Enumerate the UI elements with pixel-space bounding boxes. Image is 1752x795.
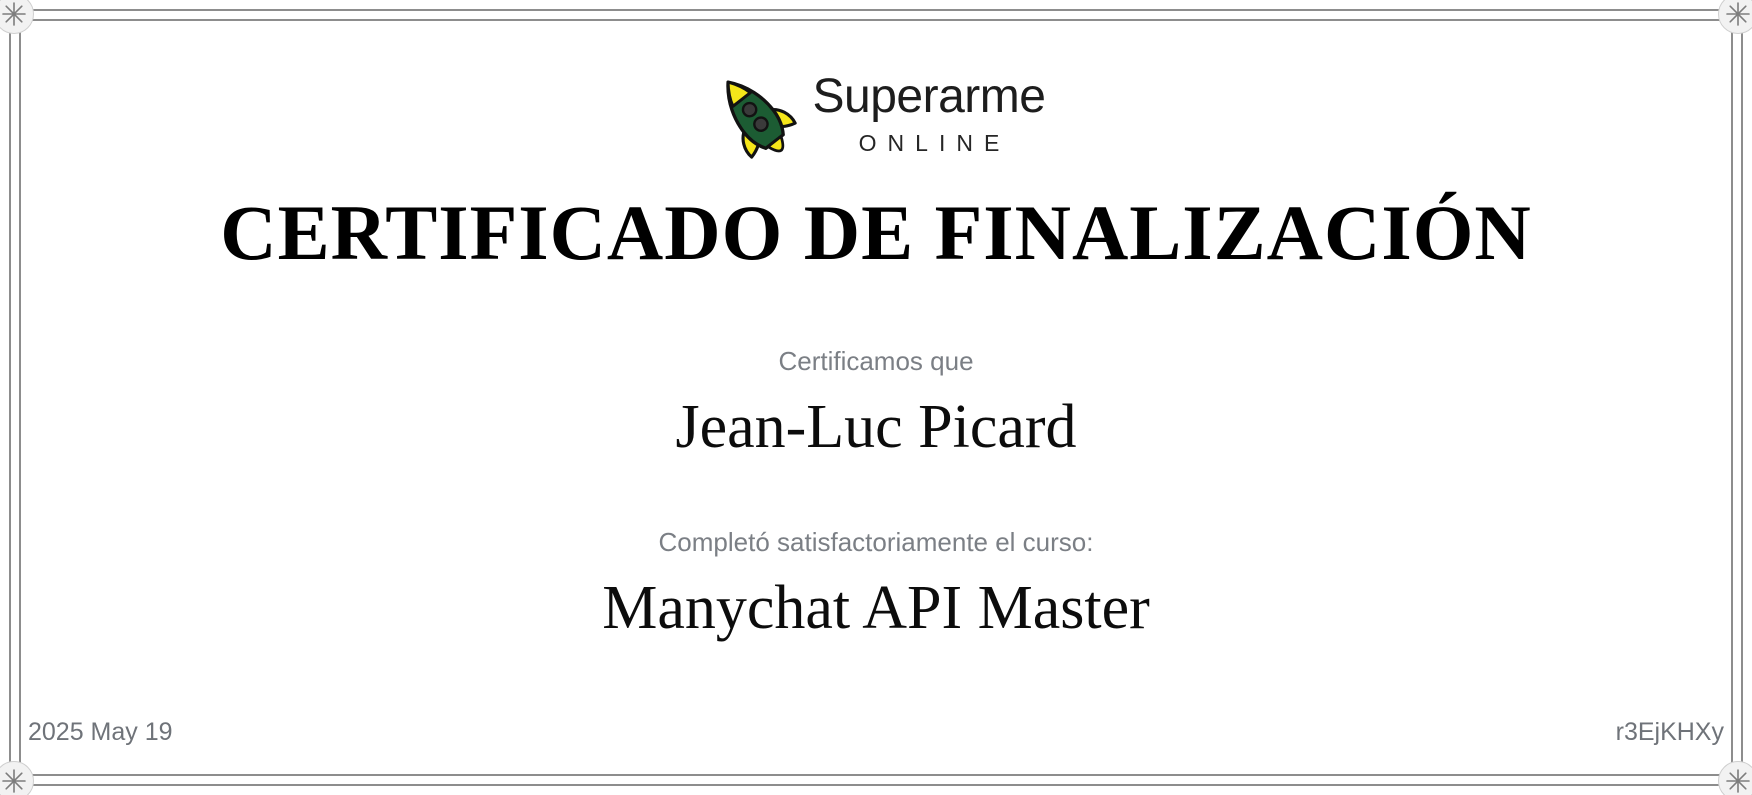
asterisk-star-icon xyxy=(1,768,27,794)
border-rule-left-outer xyxy=(9,14,11,781)
border-rule-top-outer xyxy=(14,9,1738,11)
recipient-name: Jean-Luc Picard xyxy=(675,393,1076,461)
asterisk-star-icon xyxy=(1725,768,1751,794)
certificate-title: CERTIFICADO DE FINALIZACIÓN xyxy=(220,192,1531,274)
border-rule-bottom-inner xyxy=(14,774,1738,776)
border-rule-top-inner xyxy=(14,19,1738,21)
issue-date: 2025 May 19 xyxy=(28,718,173,747)
border-rule-left-inner xyxy=(19,14,21,781)
certificate-footer: 2025 May 19 r3EjKHXy xyxy=(28,718,1724,747)
rocket-icon xyxy=(707,68,799,160)
certificate-content: Superarme ONLINE CERTIFICADO DE FINALIZA… xyxy=(30,26,1722,769)
verification-code: r3EjKHXy xyxy=(1616,718,1724,747)
course-name: Manychat API Master xyxy=(602,574,1150,642)
corner-ornament-top-right xyxy=(1718,0,1752,34)
certificate-page: Superarme ONLINE CERTIFICADO DE FINALIZA… xyxy=(0,0,1752,795)
asterisk-star-icon xyxy=(1,1,27,27)
certifies-label: Certificamos que xyxy=(778,346,973,377)
brand-subtitle: ONLINE xyxy=(859,132,1011,155)
asterisk-star-icon xyxy=(1725,1,1751,27)
border-rule-bottom-outer xyxy=(14,784,1738,786)
course-label: Completó satisfactoriamente el curso: xyxy=(659,527,1094,558)
brand-wordmark: Superarme ONLINE xyxy=(813,73,1046,155)
corner-ornament-top-left xyxy=(0,0,34,34)
corner-ornament-bottom-left xyxy=(0,761,34,795)
brand-name: Superarme xyxy=(813,73,1046,121)
brand-logo: Superarme ONLINE xyxy=(707,68,1046,160)
corner-ornament-bottom-right xyxy=(1718,761,1752,795)
border-rule-right-inner xyxy=(1731,14,1733,781)
border-rule-right-outer xyxy=(1741,14,1743,781)
